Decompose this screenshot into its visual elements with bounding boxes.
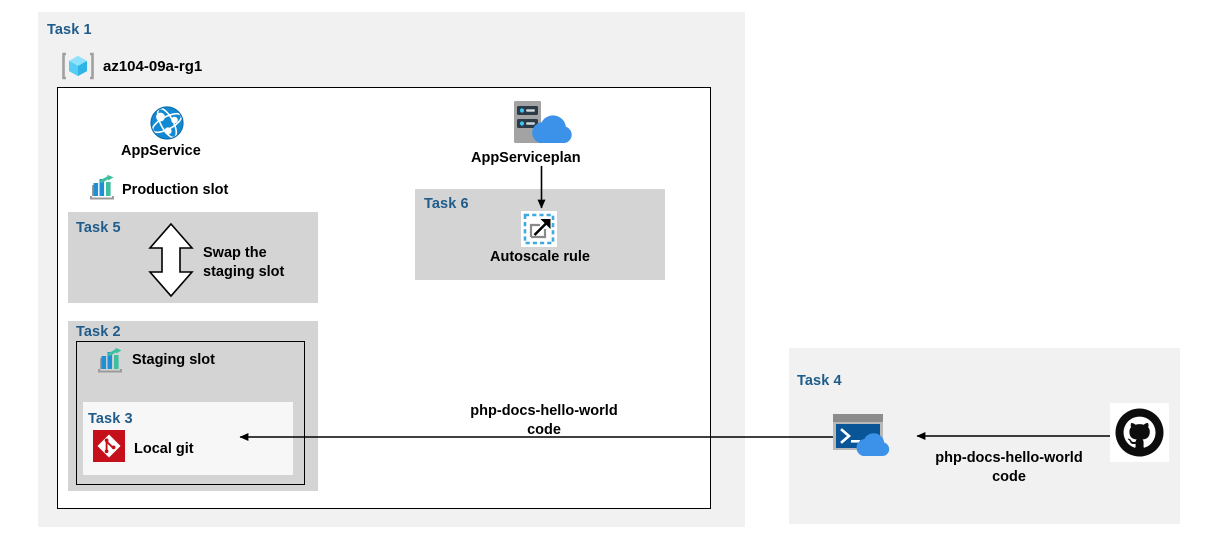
appserviceplan-label: AppServiceplan — [471, 149, 581, 167]
task4-arrow-label-line1: php-docs-hello-world — [909, 449, 1109, 467]
git-icon — [93, 430, 125, 462]
center-arrow-label-line2: code — [444, 421, 644, 439]
diagram-canvas: Task 1 az104-09a-rg1 AppService — [0, 0, 1218, 545]
github-icon — [1110, 403, 1169, 462]
deployment-slot-icon-staging — [97, 347, 125, 373]
task4-arrow-label-line2: code — [909, 468, 1109, 486]
task6-label: Task 6 — [424, 196, 469, 212]
cloud-shell-icon — [833, 414, 899, 458]
resource-group-icon — [62, 50, 94, 82]
task1-label: Task 1 — [47, 22, 92, 38]
autoscale-icon — [521, 211, 557, 247]
staging-slot-label: Staging slot — [132, 351, 215, 369]
resource-group-name: az104-09a-rg1 — [103, 58, 202, 77]
production-slot-label: Production slot — [122, 181, 228, 199]
task5-swap-text-line2: staging slot — [203, 263, 284, 281]
appservice-label: AppService — [121, 142, 201, 160]
app-service-globe-icon — [148, 104, 186, 142]
task4-label: Task 4 — [797, 373, 842, 389]
task5-label: Task 5 — [76, 220, 121, 236]
task3-label: Task 3 — [88, 411, 133, 427]
local-git-label: Local git — [134, 440, 194, 458]
deployment-slot-icon-production — [89, 174, 117, 200]
task2-label: Task 2 — [76, 324, 121, 340]
swap-double-arrow-icon — [146, 222, 196, 298]
app-service-plan-icon — [512, 99, 572, 147]
task5-swap-text-line1: Swap the — [203, 244, 267, 262]
autoscale-rule-label: Autoscale rule — [490, 248, 590, 266]
center-arrow-label-line1: php-docs-hello-world — [444, 402, 644, 420]
